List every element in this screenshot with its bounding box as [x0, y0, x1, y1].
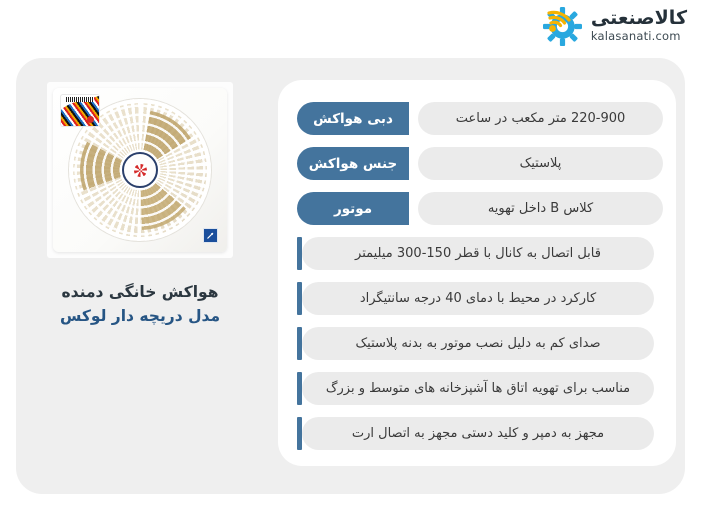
spec-value: پلاستیک [418, 147, 663, 180]
brand-name-en: kalasanati.com [591, 31, 681, 43]
accent-bar [297, 417, 302, 450]
feature-row: کارکرد در محیط با دمای 40 درجه سانتیگراد [297, 282, 663, 315]
spec-value: 220-900 متر مکعب در ساعت [418, 102, 663, 135]
feature-text: قابل اتصال به کانال با قطر 150-300 میلیم… [302, 237, 654, 270]
spec-row: موتور کلاس B داخل تهویه [297, 192, 663, 225]
feature-text: مجهز به دمپر و کلید دستی مجهز به اتصال ا… [302, 417, 654, 450]
accent-bar [297, 237, 302, 270]
spec-label: موتور [297, 192, 409, 225]
brand-header: کالاصنعتی kalasanati.com [538, 6, 687, 46]
feature-row: مجهز به دمپر و کلید دستی مجهز به اتصال ا… [297, 417, 663, 450]
spec-row: جنس هواکش پلاستیک [297, 147, 663, 180]
sticker-label-text [66, 97, 94, 102]
gear-wifi-logo-icon [538, 6, 584, 46]
manufacturer-sticker [61, 95, 99, 126]
spec-label: جنس هواکش [297, 147, 409, 180]
spec-label: دبی هواکش [297, 102, 409, 135]
brand-name-fa: کالاصنعتی [591, 9, 687, 28]
feature-row: صدای کم به دلیل نصب موتور به بدنه پلاستی… [297, 327, 663, 360]
fan-body [53, 88, 227, 252]
specs-list: دبی هواکش 220-900 متر مکعب در ساعت جنس ه… [297, 102, 663, 450]
feature-text: صدای کم به دلیل نصب موتور به بدنه پلاستی… [302, 327, 654, 360]
accent-bar [297, 372, 302, 405]
product-column: هواکش خانگی دمنده مدل دریچه دار لوکس [18, 72, 262, 417]
sticker-dot-icon [87, 116, 94, 123]
feature-row: مناسب برای تهویه اتاق ها آشپزخانه های مت… [297, 372, 663, 405]
brand-text-block: کالاصنعتی kalasanati.com [591, 9, 687, 43]
product-image [47, 82, 233, 258]
product-title: هواکش خانگی دمنده مدل دریچه دار لوکس [60, 280, 220, 328]
feature-text: کارکرد در محیط با دمای 40 درجه سانتیگراد [302, 282, 654, 315]
spec-value: کلاس B داخل تهویه [418, 192, 663, 225]
feature-row: قابل اتصال به کانال با قطر 150-300 میلیم… [297, 237, 663, 270]
accent-bar [297, 282, 302, 315]
energy-badge-icon [203, 228, 218, 243]
product-title-line1: هواکش خانگی دمنده [60, 280, 220, 304]
specs-card: دبی هواکش 220-900 متر مکعب در ساعت جنس ه… [278, 80, 676, 466]
accent-bar [297, 327, 302, 360]
feature-text: مناسب برای تهویه اتاق ها آشپزخانه های مت… [302, 372, 654, 405]
damandeh-logo-icon [134, 164, 147, 177]
fan-hub [122, 152, 158, 188]
spec-row: دبی هواکش 220-900 متر مکعب در ساعت [297, 102, 663, 135]
product-title-line2: مدل دریچه دار لوکس [60, 304, 220, 328]
